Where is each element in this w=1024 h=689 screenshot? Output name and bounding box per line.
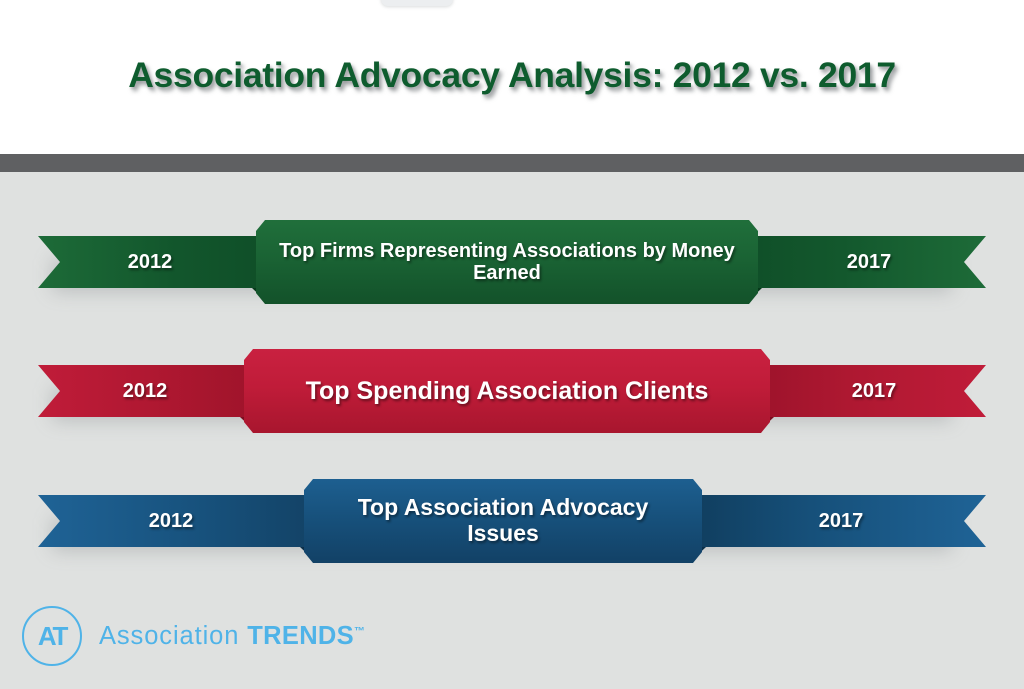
- at-monogram-icon: AT: [22, 606, 82, 666]
- ribbon-plaque-label: Top Firms Representing Associations by M…: [278, 240, 736, 285]
- header-band: Association Advocacy Analysis: 2012 vs. …: [0, 0, 1024, 154]
- ribbon-clients[interactable]: Top Spending Association Clients 2012 20…: [0, 339, 1024, 449]
- ribbon-right-year-label: 2017: [852, 380, 897, 403]
- page-title: Association Advocacy Analysis: 2012 vs. …: [0, 55, 1024, 96]
- at-monogram-label: AT: [38, 621, 66, 652]
- header-tab-nub: [381, 0, 453, 6]
- trademark-icon: ™: [354, 625, 365, 637]
- logo-wordmark: Association TRENDS™: [99, 622, 365, 651]
- ribbon-right-year-label: 2017: [847, 251, 892, 274]
- logo-word-light: Association: [99, 622, 247, 650]
- ribbon-plaque-label: Top Association Advocacy Issues: [326, 495, 680, 547]
- ribbon-plaque[interactable]: Top Spending Association Clients: [244, 349, 770, 433]
- ribbon-left-year: 2012: [60, 236, 240, 288]
- ribbon-left-year-label: 2012: [149, 510, 194, 533]
- ribbon-plaque[interactable]: Top Firms Representing Associations by M…: [256, 220, 758, 304]
- logo-word-bold: TRENDS: [247, 622, 354, 650]
- header-divider: [0, 154, 1024, 172]
- ribbon-plaque-label: Top Spending Association Clients: [306, 377, 709, 405]
- ribbon-right-year: 2017: [774, 236, 964, 288]
- ribbon-left-year: 2012: [60, 365, 230, 417]
- ribbon-right-year-label: 2017: [819, 510, 864, 533]
- ribbon-left-year: 2012: [60, 495, 282, 547]
- ribbon-right-year: 2017: [718, 495, 964, 547]
- ribbon-left-year-label: 2012: [128, 251, 173, 274]
- ribbon-left-year-label: 2012: [123, 380, 168, 403]
- ribbon-firms[interactable]: Top Firms Representing Associations by M…: [0, 210, 1024, 320]
- association-trends-logo[interactable]: AT Association TRENDS™: [22, 606, 365, 666]
- ribbon-plaque[interactable]: Top Association Advocacy Issues: [304, 479, 702, 563]
- ribbon-issues[interactable]: Top Association Advocacy Issues 2012 201…: [0, 469, 1024, 579]
- ribbon-right-year: 2017: [784, 365, 964, 417]
